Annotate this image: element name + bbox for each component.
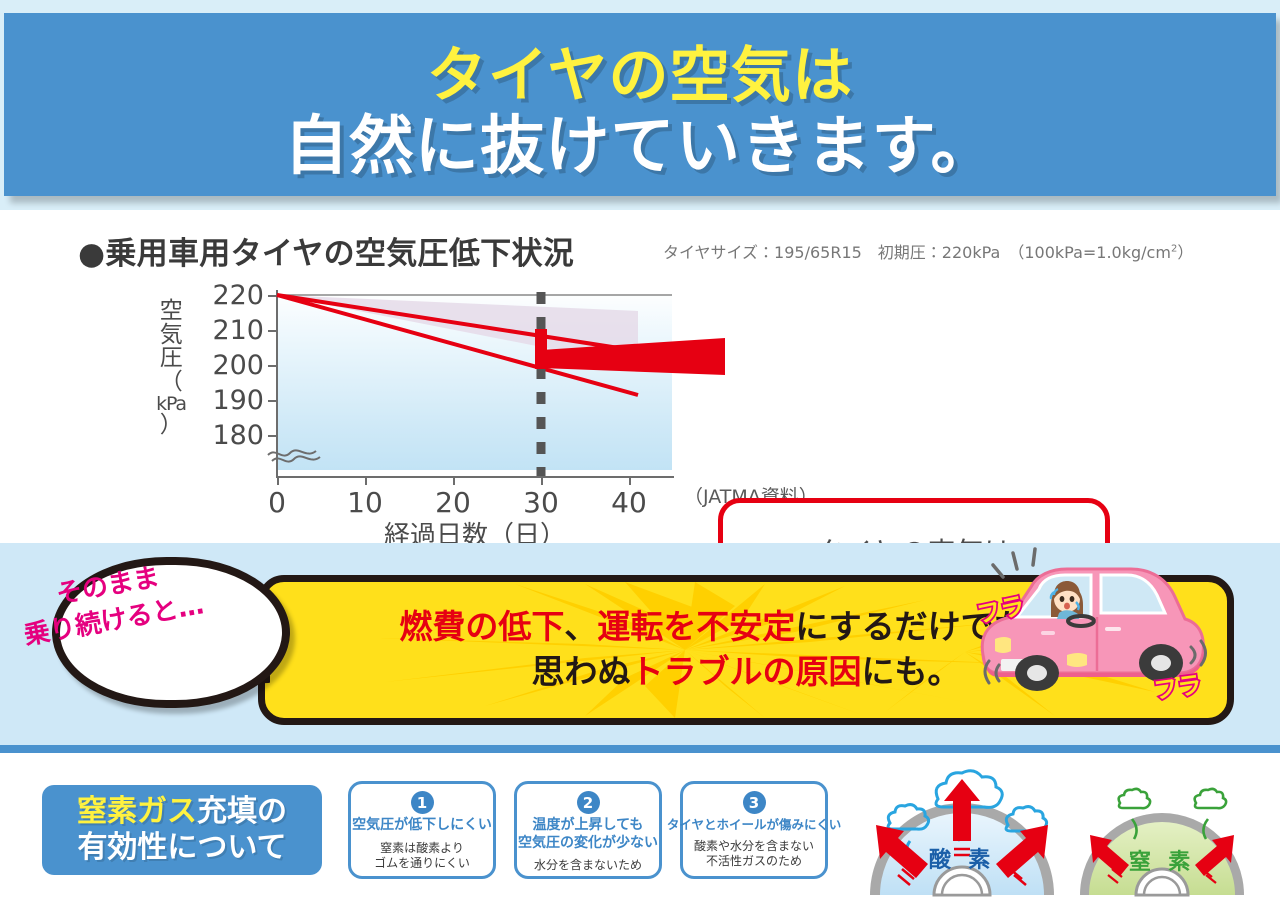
nitrogen-label: 窒 素 [1129, 849, 1195, 875]
car-wobble-icon: フラ フラ [955, 547, 1220, 712]
card-3-number: 3 [743, 791, 766, 814]
y-tick-210 [268, 330, 278, 332]
chart-subtitle: タイヤサイズ：195/65R15 初期圧：220kPa （100kPa=1.0k… [663, 239, 1193, 263]
x-label-0: 0 [247, 486, 307, 519]
chart-subtitle-pre: タイヤサイズ：195/65R15 初期圧：220kPa （100kPa=1.0k… [663, 243, 1171, 262]
card-3-body-line-1: 酸素や水分を含まない [694, 839, 814, 854]
nitrogen-title-box: 窒素ガス充填の 有効性について [42, 785, 322, 875]
chart-plot-area [277, 295, 672, 470]
y-axis-char-6: ） [154, 414, 188, 438]
card-3-body-line-2: 不活性ガスのため [694, 854, 814, 869]
card-2-heading-line-2: 空気圧の変化が少ない [518, 835, 658, 853]
chart-subtitle-post: ） [1177, 243, 1193, 262]
chart-y-axis-label: 空 気 圧 （ kPa ） [154, 300, 188, 438]
card-2-body: 水分を含まないため [534, 858, 642, 873]
nitrogen-section: 窒素ガス充填の 有効性について 1 空気圧が低下しにくい 窒素は酸素より ゴムを… [0, 753, 1280, 906]
y-tick-220 [268, 295, 278, 297]
nitrogen-title-rest: 充填の [197, 794, 287, 829]
card-1-body: 窒素は酸素より ゴムを通りにくい [374, 841, 470, 872]
warning-black-1: 、 [564, 607, 597, 646]
card-2-heading-line-1: 温度が上昇しても [518, 817, 658, 835]
y-axis-char-2: 気 [154, 324, 188, 348]
x-tick-40 [629, 476, 631, 485]
y-tick-180 [268, 435, 278, 437]
y-tick-190 [268, 400, 278, 402]
y-tick-200 [268, 365, 278, 367]
x-tick-30 [541, 476, 543, 485]
warning-section: 燃費の低下、運転を不安定にするだけでなく、 思わぬトラブルの原因にも。 そのまま… [0, 543, 1280, 745]
nitrogen-title-line-1: 窒素ガス充填の [77, 794, 287, 830]
warning-red-2: 運転を不安定 [597, 607, 795, 646]
card-1-heading: 空気圧が低下しにくい [352, 817, 492, 835]
nitrogen-benefit-card-3: 3 タイヤとホイールが傷みにくい 酸素や水分を含まない 不活性ガスのため [680, 781, 828, 879]
card-2-heading: 温度が上昇しても 空気圧の変化が少ない [518, 817, 658, 852]
warning-black-4: にも。 [862, 652, 961, 691]
warning-line-2: 思わぬトラブルの原因にも。 [532, 650, 961, 695]
chart-section: ●乗用車用タイヤの空気圧低下状況 タイヤサイズ：195/65R15 初期圧：22… [0, 210, 1280, 543]
nitrogen-title-highlight: 窒素ガス [77, 794, 197, 829]
card-1-body-line-2: ゴムを通りにくい [374, 856, 470, 871]
oxygen-tire-diagram: 酸 素 [862, 763, 1062, 903]
nitrogen-title-line-2: 有効性について [77, 830, 286, 866]
card-3-heading: タイヤとホイールが傷みにくい [667, 817, 841, 833]
sfx-right: フラ [1152, 671, 1203, 705]
x-tick-20 [453, 476, 455, 485]
chart-title: ●乗用車用タイヤの空気圧低下状況 [78, 228, 574, 273]
warning-red-1: 燃費の低下 [399, 607, 564, 646]
x-tick-10 [365, 476, 367, 485]
chart-x-axis [276, 476, 674, 478]
nitrogen-benefit-card-2: 2 温度が上昇しても 空気圧の変化が少ない 水分を含まないため [514, 781, 662, 879]
card-1-number: 1 [411, 791, 434, 814]
card-1-body-line-1: 窒素は酸素より [374, 841, 470, 856]
axis-break-icon [266, 442, 324, 464]
header-title-line2: 自然に抜けていきます。 [4, 95, 1276, 187]
warning-black-3: 思わぬ [532, 652, 631, 691]
y-axis-char-4: （ [154, 371, 188, 395]
section-divider [0, 745, 1280, 753]
nitrogen-tire-diagram: 窒 素 [1062, 763, 1262, 903]
nitrogen-benefit-card-1: 1 空気圧が低下しにくい 窒素は酸素より ゴムを通りにくい [348, 781, 496, 879]
y-axis-char-3: 圧 [154, 347, 188, 371]
card-3-body: 酸素や水分を含まない 不活性ガスのため [694, 839, 814, 870]
x-tick-0 [277, 476, 279, 485]
warning-red-3: トラブルの原因 [631, 652, 862, 691]
oxygen-label: 酸 素 [929, 847, 995, 873]
card-2-number: 2 [577, 791, 600, 814]
y-axis-char-1: 空 [154, 300, 188, 324]
header-banner: タイヤの空気は 自然に抜けていきます。 [4, 13, 1276, 196]
chart-header: ●乗用車用タイヤの空気圧低下状況 タイヤサイズ：195/65R15 初期圧：22… [78, 228, 1258, 270]
